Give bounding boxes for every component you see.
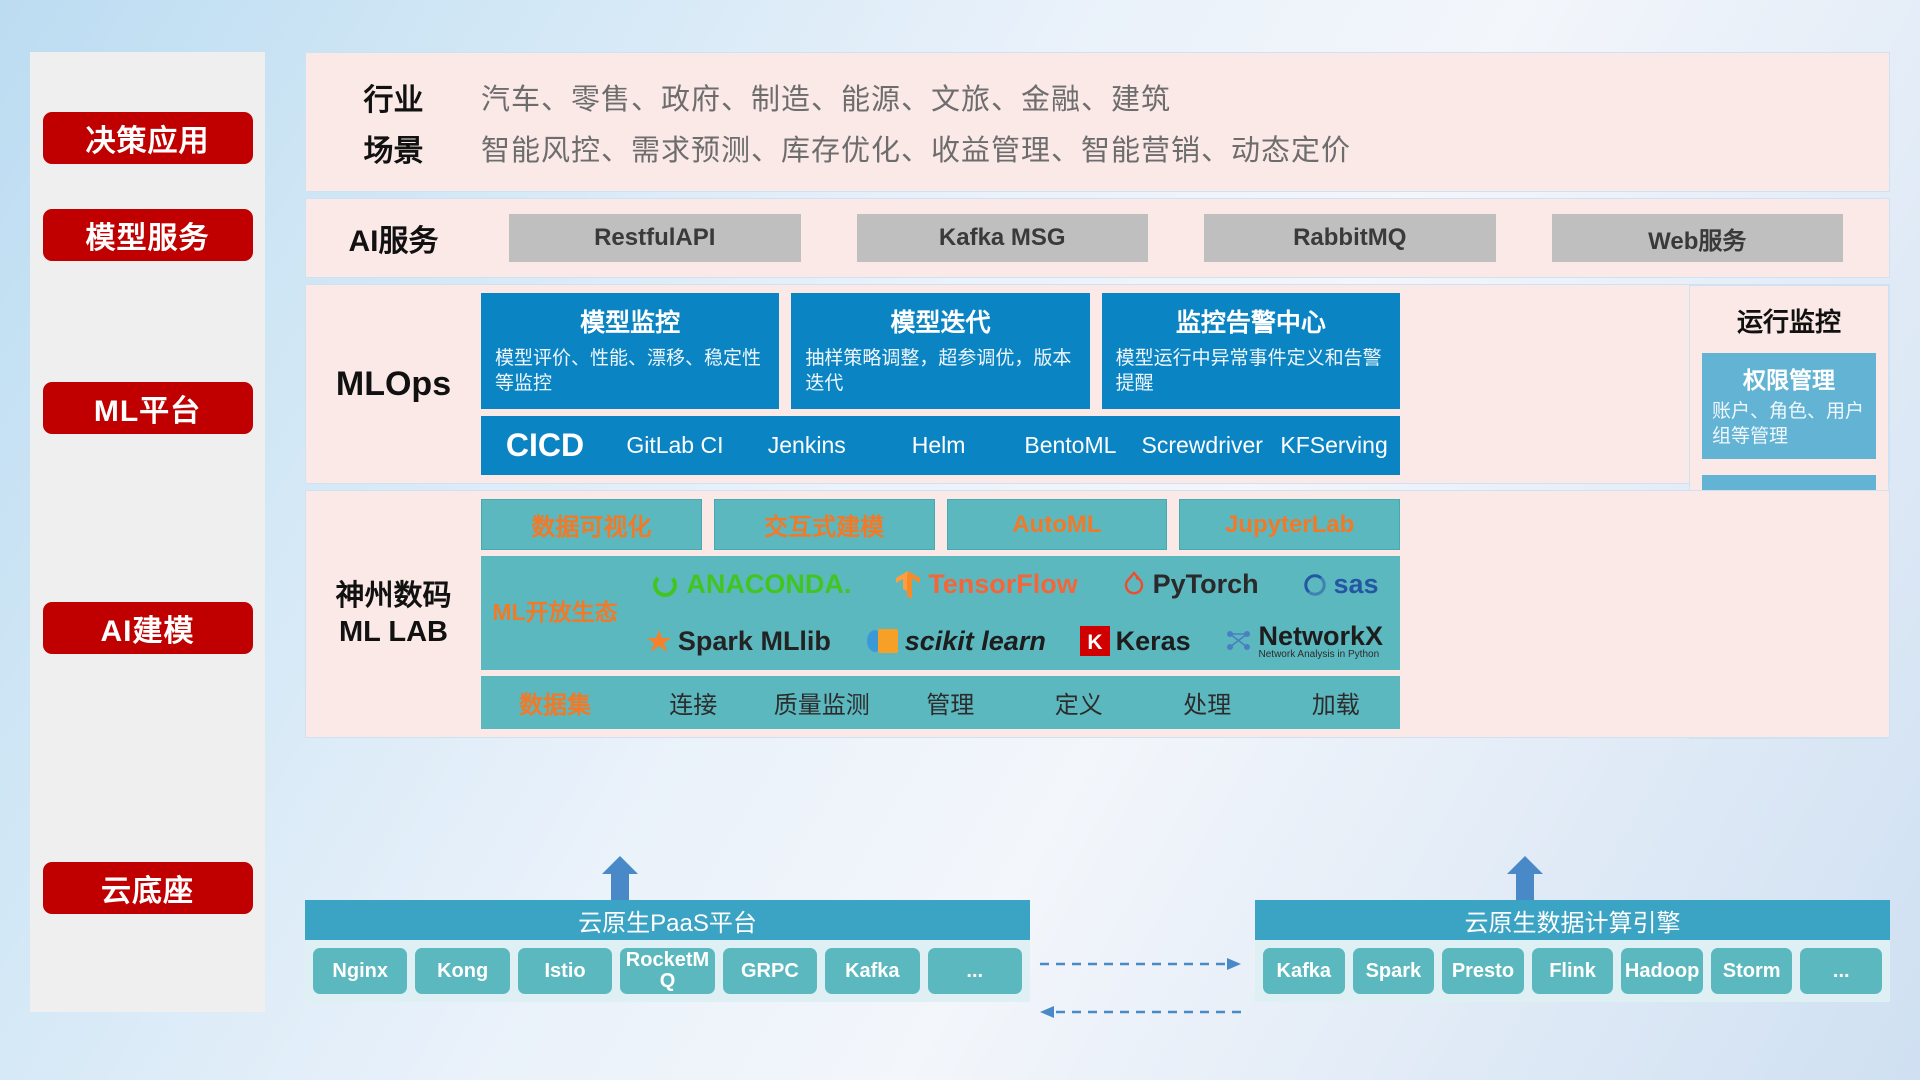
ml-lab-label-line2: ML LAB	[339, 614, 448, 650]
spark-mllib-logo: Spark MLlib	[646, 626, 831, 657]
card-title: 权限管理	[1712, 361, 1866, 395]
stack-layer-sidebar: 决策应用 模型服务 ML平台 AI建模 云底座	[30, 52, 265, 1012]
engine-up-arrow-icon	[1505, 856, 1545, 900]
mlops-label: MLOps	[306, 285, 481, 483]
ai-service-band: AI服务 RestfulAPI Kafka MSG RabbitMQ Web服务	[305, 198, 1890, 278]
paas-title: 云原生PaaS平台	[305, 900, 1030, 940]
cicd-item-bentoml[interactable]: BentoML	[1004, 434, 1136, 457]
paas-tag-grpc[interactable]: GRPC	[723, 948, 817, 994]
sidebar-item-ml-platform[interactable]: ML平台	[43, 382, 253, 434]
logo-line-top: ANACONDA. TensorFlow	[629, 556, 1400, 613]
spark-star-icon	[646, 628, 672, 654]
cicd-item-gitlab-ci[interactable]: GitLab CI	[609, 434, 741, 457]
runtime-monitor-title: 运行监控	[1702, 302, 1876, 339]
dataset-item-define[interactable]: 定义	[1015, 685, 1144, 720]
scenario-value: 智能风控、需求预测、库存优化、收益管理、智能营销、动态定价	[481, 127, 1351, 169]
scenario-label: 场景	[306, 126, 481, 170]
cicd-item-kfserving[interactable]: KFServing	[1268, 434, 1400, 457]
tensorflow-label: TensorFlow	[928, 569, 1078, 600]
dataset-item-process[interactable]: 处理	[1143, 685, 1272, 720]
ai-modeling-band: 神州数码 ML LAB 数据可视化 交互式建模 AutoML JupyterLa…	[305, 490, 1890, 738]
tool-automl[interactable]: AutoML	[947, 499, 1168, 550]
paas-up-arrow-icon	[600, 856, 640, 900]
scenario-row: 场景 智能风控、需求预测、库存优化、收益管理、智能营销、动态定价	[306, 122, 1889, 173]
paas-tag-rocketmq[interactable]: RocketMQ	[620, 948, 714, 994]
engine-tag-more[interactable]: ...	[1800, 948, 1882, 994]
card-desc: 账户、角色、用户组等管理	[1712, 400, 1866, 449]
sas-icon	[1302, 572, 1328, 598]
cicd-row: CICD GitLab CI Jenkins Helm BentoML Scre…	[481, 416, 1400, 475]
networkx-logo: NetworkX Network Analysis in Python	[1225, 623, 1384, 660]
ai-service-label: AI服务	[306, 216, 481, 260]
sidebar-item-model-service[interactable]: 模型服务	[43, 209, 253, 261]
networkx-label: NetworkX	[1259, 623, 1384, 650]
tensorflow-icon	[894, 569, 922, 601]
ml-tool-row: 数据可视化 交互式建模 AutoML JupyterLab	[481, 499, 1400, 550]
anaconda-label: ANACONDA.	[686, 569, 851, 600]
card-desc: 模型评价、性能、漂移、稳定性等监控	[495, 346, 765, 396]
scikit-learn-label: scikit learn	[905, 626, 1046, 657]
scikit-learn-icon	[865, 627, 899, 655]
mlops-band: MLOps 模型监控 模型评价、性能、漂移、稳定性等监控 模型迭代 抽样策略调整…	[305, 284, 1890, 484]
anaconda-icon	[650, 570, 680, 600]
service-button-rabbitmq[interactable]: RabbitMQ	[1204, 214, 1496, 262]
ml-lab-body: 数据可视化 交互式建模 AutoML JupyterLab ML开放生态	[481, 491, 1406, 737]
card-title: 模型迭代	[805, 303, 1075, 339]
paas-group: 云原生PaaS平台 Nginx Kong Istio RocketMQ GRPC…	[305, 900, 1030, 1002]
cicd-label: CICD	[481, 427, 609, 464]
spark-mllib-label: Spark MLlib	[678, 626, 831, 657]
paas-tag-row: Nginx Kong Istio RocketMQ GRPC Kafka ...	[305, 940, 1030, 1002]
dataset-item-manage[interactable]: 管理	[886, 685, 1015, 720]
keras-icon: K	[1080, 626, 1110, 656]
paas-tag-kafka[interactable]: Kafka	[825, 948, 919, 994]
card-title: 模型监控	[495, 303, 765, 339]
tool-interactive-modeling[interactable]: 交互式建模	[714, 499, 935, 550]
engine-tag-spark[interactable]: Spark	[1353, 948, 1435, 994]
card-desc: 抽样策略调整，超参调优，版本迭代	[805, 346, 1075, 396]
logo-line-bottom: Spark MLlib scikit learn	[629, 613, 1400, 670]
service-button-restfulapi[interactable]: RestfulAPI	[509, 214, 801, 262]
engine-tag-flink[interactable]: Flink	[1532, 948, 1614, 994]
industry-label: 行业	[306, 75, 481, 119]
dataset-item-quality[interactable]: 质量监测	[758, 685, 887, 720]
card-title: 监控告警中心	[1116, 303, 1386, 339]
sidebar-item-ai-modeling[interactable]: AI建模	[43, 602, 253, 654]
engine-tag-row: Kafka Spark Presto Flink Hadoop Storm ..…	[1255, 940, 1890, 1002]
cicd-item-jenkins[interactable]: Jenkins	[741, 434, 873, 457]
engine-tag-presto[interactable]: Presto	[1442, 948, 1524, 994]
ml-lab-label: 神州数码 ML LAB	[306, 491, 481, 737]
paas-tag-nginx[interactable]: Nginx	[313, 948, 407, 994]
svg-text:K: K	[1087, 631, 1102, 654]
mlops-left-section: MLOps 模型监控 模型评价、性能、漂移、稳定性等监控 模型迭代 抽样策略调整…	[306, 285, 1406, 483]
cicd-item-screwdriver[interactable]: Screwdriver	[1136, 434, 1268, 457]
sas-logo: sas	[1302, 569, 1379, 600]
sidebar-item-decision-apps[interactable]: 决策应用	[43, 112, 253, 164]
paas-tag-more[interactable]: ...	[928, 948, 1022, 994]
data-engine-group: 云原生数据计算引擎 Kafka Spark Presto Flink Hadoo…	[1255, 900, 1890, 1002]
sas-label: sas	[1334, 569, 1379, 600]
sidebar-item-cloud-base[interactable]: 云底座	[43, 862, 253, 914]
service-button-kafka-msg[interactable]: Kafka MSG	[857, 214, 1149, 262]
pytorch-logo: PyTorch	[1121, 569, 1259, 600]
dataset-item-load[interactable]: 加载	[1272, 685, 1401, 720]
networkx-icon	[1225, 628, 1253, 654]
service-button-web[interactable]: Web服务	[1552, 214, 1844, 262]
dataset-row: 数据集 连接 质量监测 管理 定义 处理 加载	[481, 676, 1400, 729]
engine-tag-kafka[interactable]: Kafka	[1263, 948, 1345, 994]
keras-logo: K Keras	[1080, 626, 1191, 657]
card-desc: 模型运行中异常事件定义和告警提醒	[1116, 346, 1386, 396]
tool-data-visualization[interactable]: 数据可视化	[481, 499, 702, 550]
ml-ecosystem-logos: ANACONDA. TensorFlow	[629, 556, 1400, 670]
keras-label: Keras	[1116, 626, 1191, 657]
ai-service-button-row: RestfulAPI Kafka MSG RabbitMQ Web服务	[481, 214, 1889, 262]
mlops-card-alert-center[interactable]: 监控告警中心 模型运行中异常事件定义和告警提醒	[1102, 293, 1400, 409]
anaconda-logo: ANACONDA.	[650, 569, 851, 600]
mlops-card-model-monitoring[interactable]: 模型监控 模型评价、性能、漂移、稳定性等监控	[481, 293, 779, 409]
industry-value: 汽车、零售、政府、制造、能源、文旅、金融、建筑	[481, 76, 1171, 118]
bidirectional-dashed-connector	[1035, 950, 1250, 1030]
paas-tag-istio[interactable]: Istio	[518, 948, 612, 994]
engine-tag-hadoop[interactable]: Hadoop	[1621, 948, 1703, 994]
paas-tag-kong[interactable]: Kong	[415, 948, 509, 994]
engine-tag-storm[interactable]: Storm	[1711, 948, 1793, 994]
mlops-card-model-iteration[interactable]: 模型迭代 抽样策略调整，超参调优，版本迭代	[791, 293, 1089, 409]
ml-lab-section: 神州数码 ML LAB 数据可视化 交互式建模 AutoML JupyterLa…	[306, 491, 1406, 737]
cloud-base-section: 云原生PaaS平台 Nginx Kong Istio RocketMQ GRPC…	[305, 880, 1890, 1030]
engine-title: 云原生数据计算引擎	[1255, 900, 1890, 940]
pytorch-label: PyTorch	[1153, 569, 1259, 600]
tensorflow-logo: TensorFlow	[894, 569, 1078, 601]
tool-jupyterlab[interactable]: JupyterLab	[1179, 499, 1400, 550]
scikit-learn-logo: scikit learn	[865, 626, 1046, 657]
mlops-card-row: 模型监控 模型评价、性能、漂移、稳定性等监控 模型迭代 抽样策略调整，超参调优，…	[481, 293, 1400, 409]
monitor-card-permission[interactable]: 权限管理 账户、角色、用户组等管理	[1702, 353, 1876, 459]
dataset-item-connect[interactable]: 连接	[629, 685, 758, 720]
cicd-item-helm[interactable]: Helm	[873, 434, 1005, 457]
industry-row: 行业 汽车、零售、政府、制造、能源、文旅、金融、建筑	[306, 71, 1889, 122]
pytorch-icon	[1121, 570, 1147, 600]
ml-ecosystem-label: ML开放生态	[481, 599, 629, 627]
decision-apps-band: 行业 汽车、零售、政府、制造、能源、文旅、金融、建筑 场景 智能风控、需求预测、…	[305, 52, 1890, 192]
mlops-body: 模型监控 模型评价、性能、漂移、稳定性等监控 模型迭代 抽样策略调整，超参调优，…	[481, 285, 1406, 483]
ml-lab-label-line1: 神州数码	[335, 578, 451, 614]
networkx-sublabel: Network Analysis in Python	[1259, 650, 1384, 660]
ml-ecosystem-row: ML开放生态 ANACONDA.	[481, 556, 1400, 670]
dataset-label: 数据集	[481, 685, 629, 720]
